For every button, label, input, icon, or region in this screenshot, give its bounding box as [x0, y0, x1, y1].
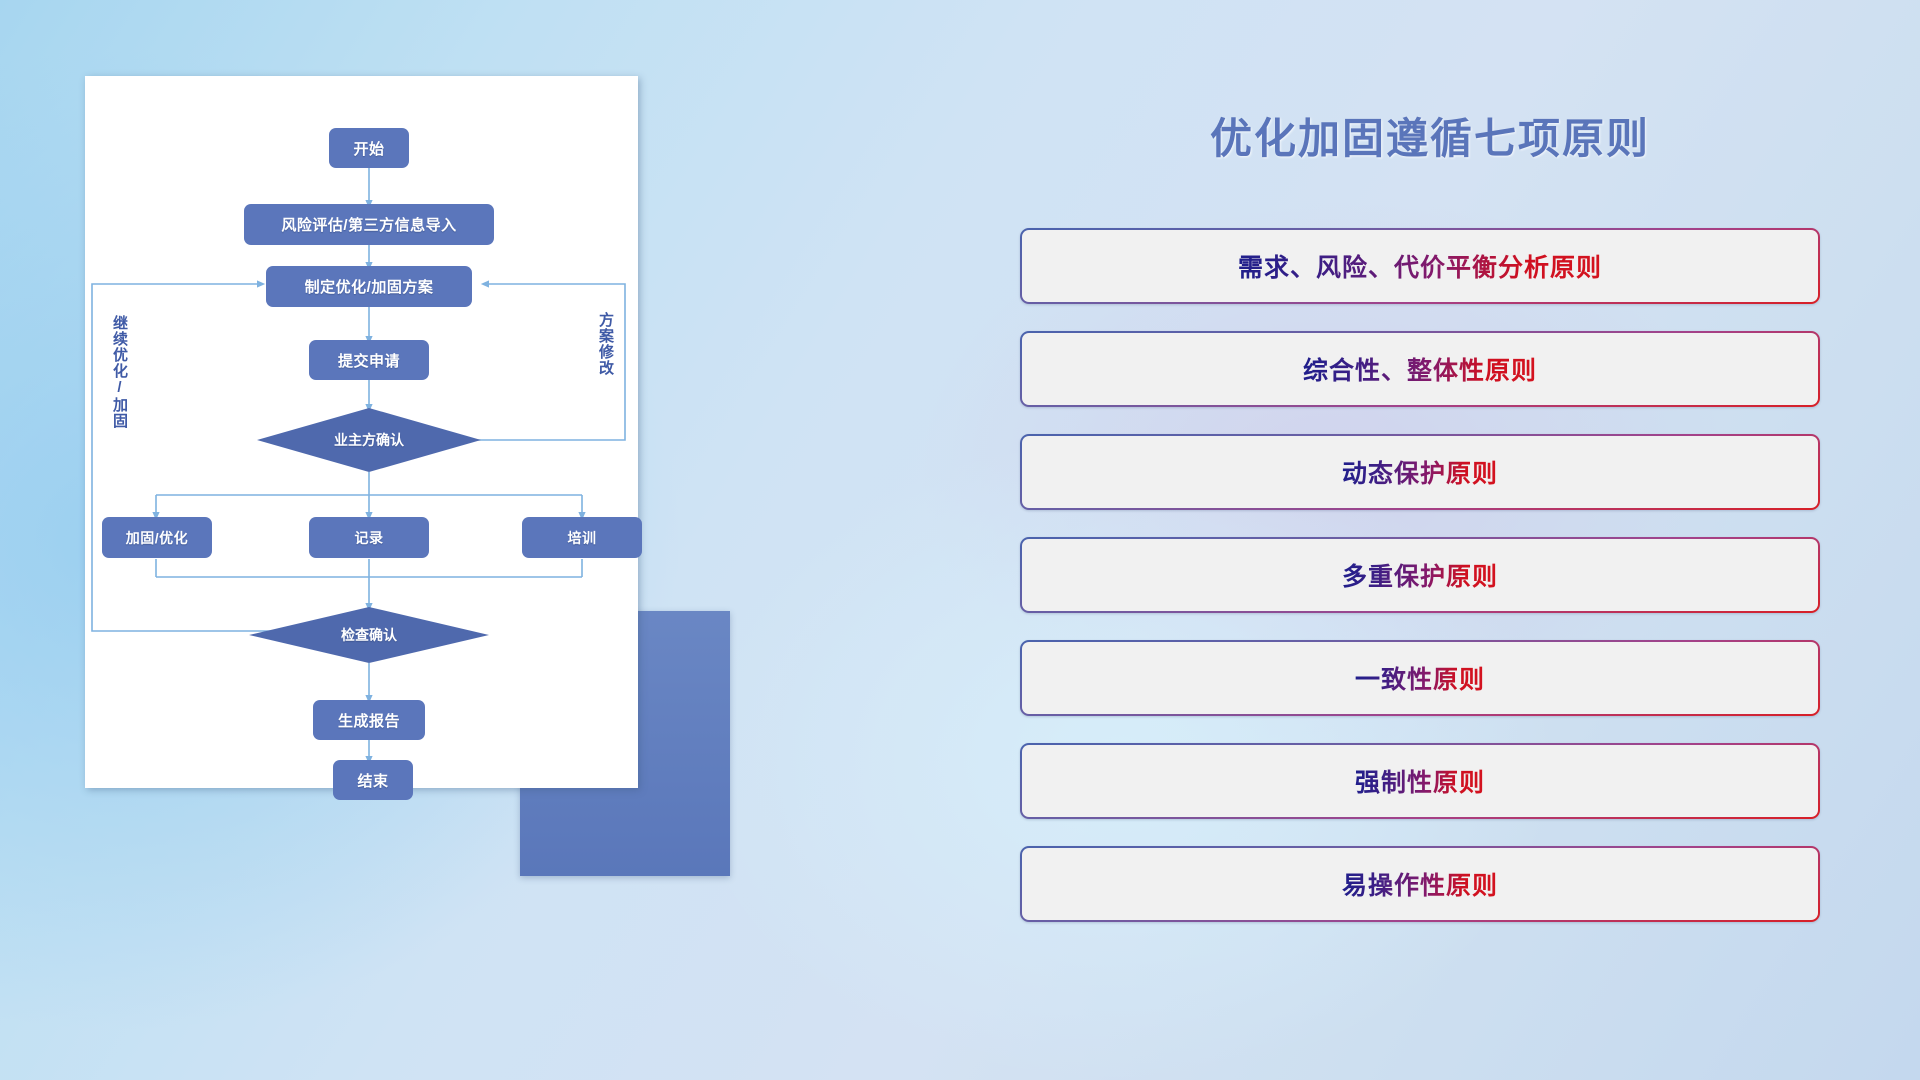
principle-label: 多重保护原则 — [1342, 557, 1498, 593]
node-record-label: 记录 — [355, 528, 384, 548]
principle-card-inner: 易操作性原则 — [1022, 848, 1818, 920]
principle-card-inner: 强制性原则 — [1022, 745, 1818, 817]
node-risk-assessment[interactable]: 风险评估/第三方信息导入 — [244, 204, 494, 245]
node-record[interactable]: 记录 — [309, 517, 429, 558]
node-plan-label: 制定优化/加固方案 — [305, 276, 434, 297]
principle-card-inner: 综合性、整体性原则 — [1022, 333, 1818, 405]
principle-card-inner: 多重保护原则 — [1022, 539, 1818, 611]
list-item[interactable]: 一致性原则 — [1020, 640, 1820, 716]
slide-root: 开始 风险评估/第三方信息导入 制定优化/加固方案 提交申请 业主方确认 加固/… — [0, 0, 1920, 1080]
decision-owner-confirm-shape — [257, 408, 481, 472]
node-start-label: 开始 — [353, 138, 384, 159]
node-generate-report[interactable]: 生成报告 — [313, 700, 425, 740]
principle-card-inner: 需求、风险、代价平衡分析原则 — [1022, 230, 1818, 302]
list-item[interactable]: 多重保护原则 — [1020, 537, 1820, 613]
principle-label: 综合性、整体性原则 — [1303, 351, 1537, 387]
list-item[interactable]: 易操作性原则 — [1020, 846, 1820, 922]
node-training-label: 培训 — [568, 528, 597, 548]
node-plan[interactable]: 制定优化/加固方案 — [266, 266, 472, 307]
node-start[interactable]: 开始 — [329, 128, 409, 168]
node-submit-application-label: 提交申请 — [338, 350, 400, 371]
node-risk-assessment-label: 风险评估/第三方信息导入 — [281, 214, 456, 235]
node-generate-report-label: 生成报告 — [338, 710, 400, 731]
principle-label: 动态保护原则 — [1342, 454, 1498, 490]
list-item[interactable]: 动态保护原则 — [1020, 434, 1820, 510]
principle-label: 易操作性原则 — [1342, 866, 1498, 902]
principles-pane: 优化加固遵循七项原则 需求、风险、代价平衡分析原则 综合性、整体性原则 动态保护… — [1020, 80, 1840, 1020]
edge-label-plan-revision-text: 方案修改 — [597, 312, 614, 376]
node-reinforce-optimize[interactable]: 加固/优化 — [102, 517, 212, 558]
principle-card-inner: 动态保护原则 — [1022, 436, 1818, 508]
node-end-label: 结束 — [357, 770, 388, 791]
list-item[interactable]: 综合性、整体性原则 — [1020, 331, 1820, 407]
edge-label-plan-revision: 方案修改 — [597, 312, 614, 376]
edge-label-continue-optimize-text: 继续优化/加固 — [111, 315, 128, 429]
decision-inspect-shape — [249, 607, 489, 663]
principle-list: 需求、风险、代价平衡分析原则 综合性、整体性原则 动态保护原则 多重保护原则 — [1020, 228, 1820, 949]
edge-label-continue-optimize: 继续优化/加固 — [111, 315, 128, 429]
node-submit-application[interactable]: 提交申请 — [309, 340, 429, 380]
node-reinforce-optimize-label: 加固/优化 — [126, 528, 188, 548]
list-item[interactable]: 强制性原则 — [1020, 743, 1820, 819]
page-title: 优化加固遵循七项原则 — [1020, 105, 1840, 166]
flowchart-panel: 开始 风险评估/第三方信息导入 制定优化/加固方案 提交申请 业主方确认 加固/… — [85, 76, 645, 788]
principle-label: 需求、风险、代价平衡分析原则 — [1238, 248, 1602, 284]
list-item[interactable]: 需求、风险、代价平衡分析原则 — [1020, 228, 1820, 304]
flowchart-connectors — [85, 76, 645, 788]
node-training[interactable]: 培训 — [522, 517, 642, 558]
principle-label: 强制性原则 — [1355, 763, 1485, 799]
principle-card-inner: 一致性原则 — [1022, 642, 1818, 714]
principle-label: 一致性原则 — [1355, 660, 1485, 696]
node-end[interactable]: 结束 — [333, 760, 413, 800]
